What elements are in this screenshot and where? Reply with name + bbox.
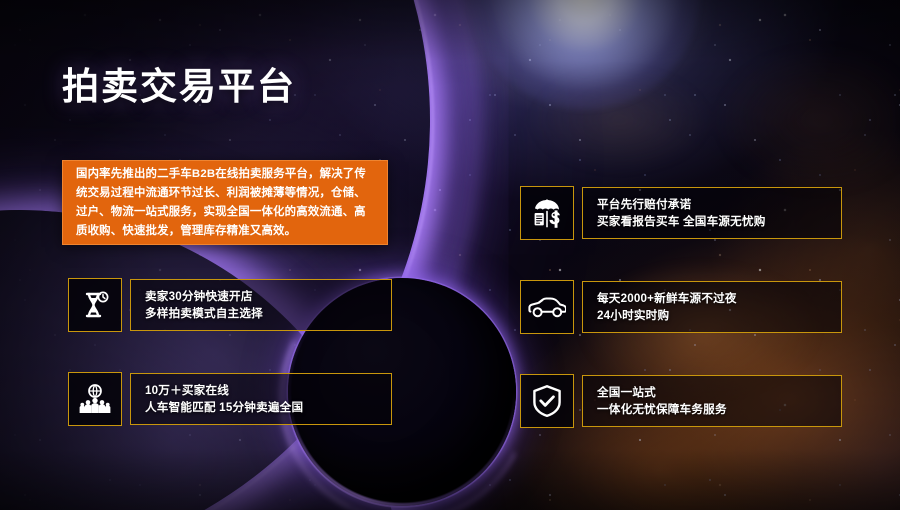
feature-text-box: 平台先行赔付承诺 买家看报告买车 全国车源无忧购: [582, 187, 842, 239]
intro-description-panel: 国内率先推出的二手车B2B在线拍卖服务平台，解决了传统交易过程中流通环节过长、利…: [62, 160, 388, 245]
feature-line-1: 卖家30分钟快速开店: [145, 288, 391, 305]
feature-line-2: 买家看报告买车 全国车源无忧购: [597, 213, 841, 230]
feature-line-2: 24小时实时购: [597, 307, 841, 324]
feature-text-box: 10万＋买家在线 人车智能匹配 15分钟卖遍全国: [130, 373, 392, 425]
feature-line-2: 多样拍卖模式自主选择: [145, 305, 391, 322]
feature-line-1: 10万＋买家在线: [145, 382, 391, 399]
feature-line-1: 平台先行赔付承诺: [597, 196, 841, 213]
feature-text-box: 卖家30分钟快速开店 多样拍卖模式自主选择: [130, 279, 392, 331]
hourglass-clock-icon: [68, 278, 122, 332]
page-title: 拍卖交易平台: [62, 56, 296, 110]
content-layer: 拍卖交易平台 国内率先推出的二手车B2B在线拍卖服务平台，解决了传统交易过程中流…: [0, 0, 900, 510]
globe-people-icon: [68, 372, 122, 426]
feature-line-1: 每天2000+新鲜车源不过夜: [597, 290, 841, 307]
slide-canvas: 拍卖交易平台 国内率先推出的二手车B2B在线拍卖服务平台，解决了传统交易过程中流…: [0, 0, 900, 510]
feature-line-1: 全国一站式: [597, 384, 841, 401]
feature-item-buyers-online[interactable]: 10万＋买家在线 人车智能匹配 15分钟卖遍全国: [68, 372, 392, 426]
feature-text-box: 每天2000+新鲜车源不过夜 24小时实时购: [582, 281, 842, 333]
feature-text-box: 全国一站式 一体化无忧保障车务服务: [582, 375, 842, 427]
umbrella-dollar-document-icon: [520, 186, 574, 240]
shield-check-icon: [520, 374, 574, 428]
feature-item-one-stop-service[interactable]: 全国一站式 一体化无忧保障车务服务: [520, 374, 842, 428]
feature-item-compensation-promise[interactable]: 平台先行赔付承诺 买家看报告买车 全国车源无忧购: [520, 186, 842, 240]
feature-line-2: 一体化无忧保障车务服务: [597, 401, 841, 418]
car-icon: [520, 280, 574, 334]
feature-item-seller-store[interactable]: 卖家30分钟快速开店 多样拍卖模式自主选择: [68, 278, 392, 332]
feature-line-2: 人车智能匹配 15分钟卖遍全国: [145, 399, 391, 416]
intro-description-text: 国内率先推出的二手车B2B在线拍卖服务平台，解决了传统交易过程中流通环节过长、利…: [62, 165, 388, 241]
feature-item-daily-fresh-cars[interactable]: 每天2000+新鲜车源不过夜 24小时实时购: [520, 280, 842, 334]
